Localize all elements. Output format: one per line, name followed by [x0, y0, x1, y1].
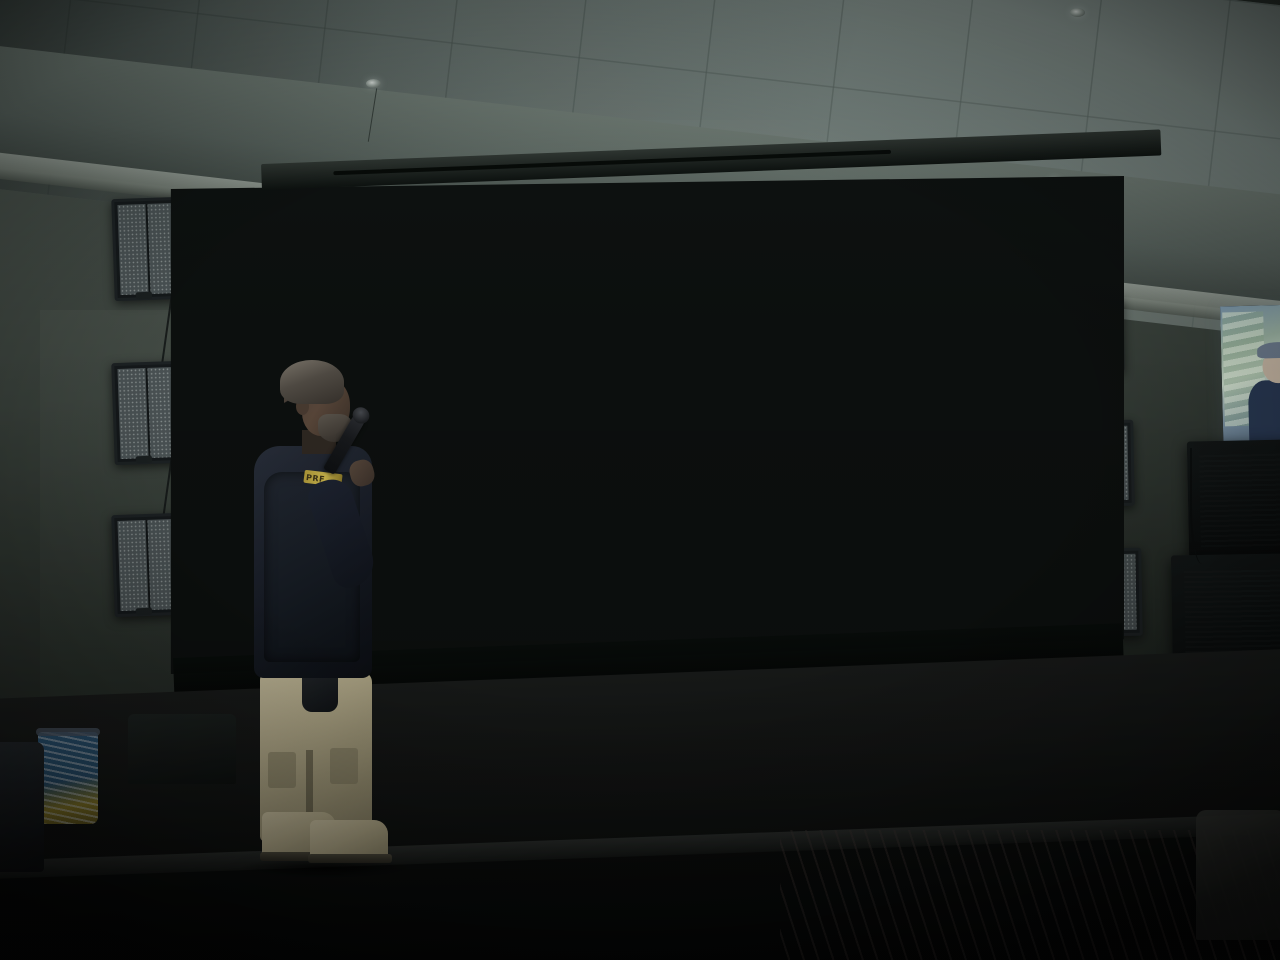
waste-bin	[38, 732, 98, 824]
panel-bracket	[136, 456, 152, 464]
speaker-cable	[1190, 448, 1214, 564]
side-chair	[1196, 810, 1280, 940]
presentation-photo-scene: Quem faz parte do trânsito? Great Place …	[0, 0, 1280, 960]
presenter-hair	[280, 360, 344, 404]
foreground-equipment	[0, 742, 44, 872]
presenter-person: PRF	[246, 360, 396, 880]
presenter-cargo-pocket-right	[330, 748, 358, 784]
microphone-head	[350, 404, 373, 426]
presenter-boot-sole-front	[308, 854, 392, 863]
bin-rim	[36, 728, 100, 736]
stage-furniture	[128, 714, 236, 784]
panel-bracket	[136, 608, 152, 616]
presenter-cargo-pocket-left	[268, 752, 296, 788]
panel-bracket	[136, 292, 152, 300]
spotlight-icon	[1070, 8, 1085, 17]
spotlight-icon	[366, 79, 381, 88]
